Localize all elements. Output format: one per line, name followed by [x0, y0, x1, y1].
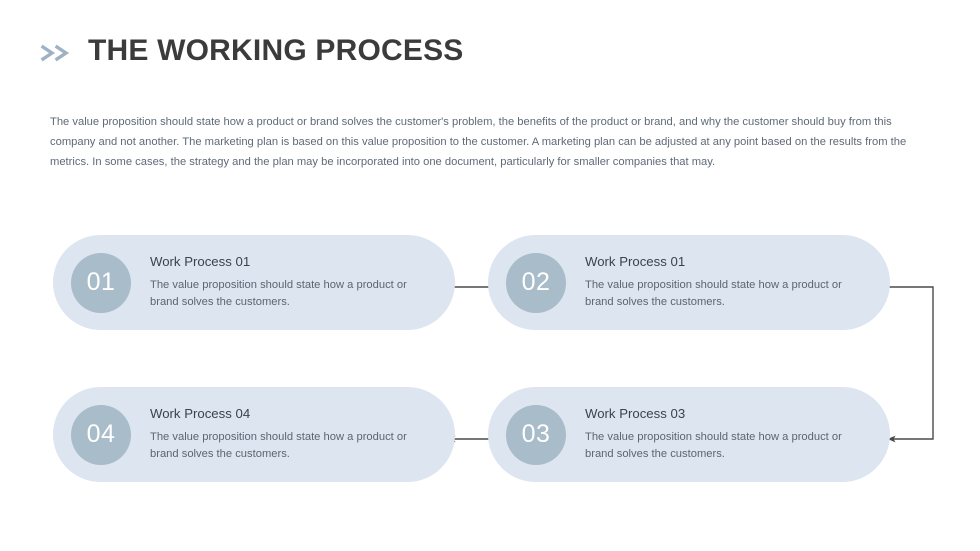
card-description: The value proposition should state how a… [585, 429, 847, 463]
card-title: Work Process 03 [585, 406, 847, 422]
card-text-block: Work Process 04 The value proposition sh… [150, 406, 426, 463]
card-text-block: Work Process 01 The value proposition sh… [585, 254, 861, 311]
card-title: Work Process 04 [150, 406, 412, 422]
step-number-badge: 02 [506, 253, 566, 313]
card-description: The value proposition should state how a… [150, 429, 412, 463]
process-card-03[interactable]: 03 Work Process 03 The value proposition… [488, 387, 890, 482]
card-title: Work Process 01 [585, 254, 847, 270]
step-number-badge: 01 [71, 253, 131, 313]
process-card-04[interactable]: 04 Work Process 04 The value proposition… [53, 387, 455, 482]
card-description: The value proposition should state how a… [585, 277, 847, 311]
card-title: Work Process 01 [150, 254, 412, 270]
card-text-block: Work Process 01 The value proposition sh… [150, 254, 426, 311]
card-text-block: Work Process 03 The value proposition sh… [585, 406, 861, 463]
process-card-02[interactable]: 02 Work Process 01 The value proposition… [488, 235, 890, 330]
arrow-step2-to-step3 [887, 287, 933, 439]
step-number-badge: 04 [71, 405, 131, 465]
process-diagram: 01 Work Process 01 The value proposition… [0, 0, 980, 551]
process-card-01[interactable]: 01 Work Process 01 The value proposition… [53, 235, 455, 330]
card-description: The value proposition should state how a… [150, 277, 412, 311]
step-number-badge: 03 [506, 405, 566, 465]
